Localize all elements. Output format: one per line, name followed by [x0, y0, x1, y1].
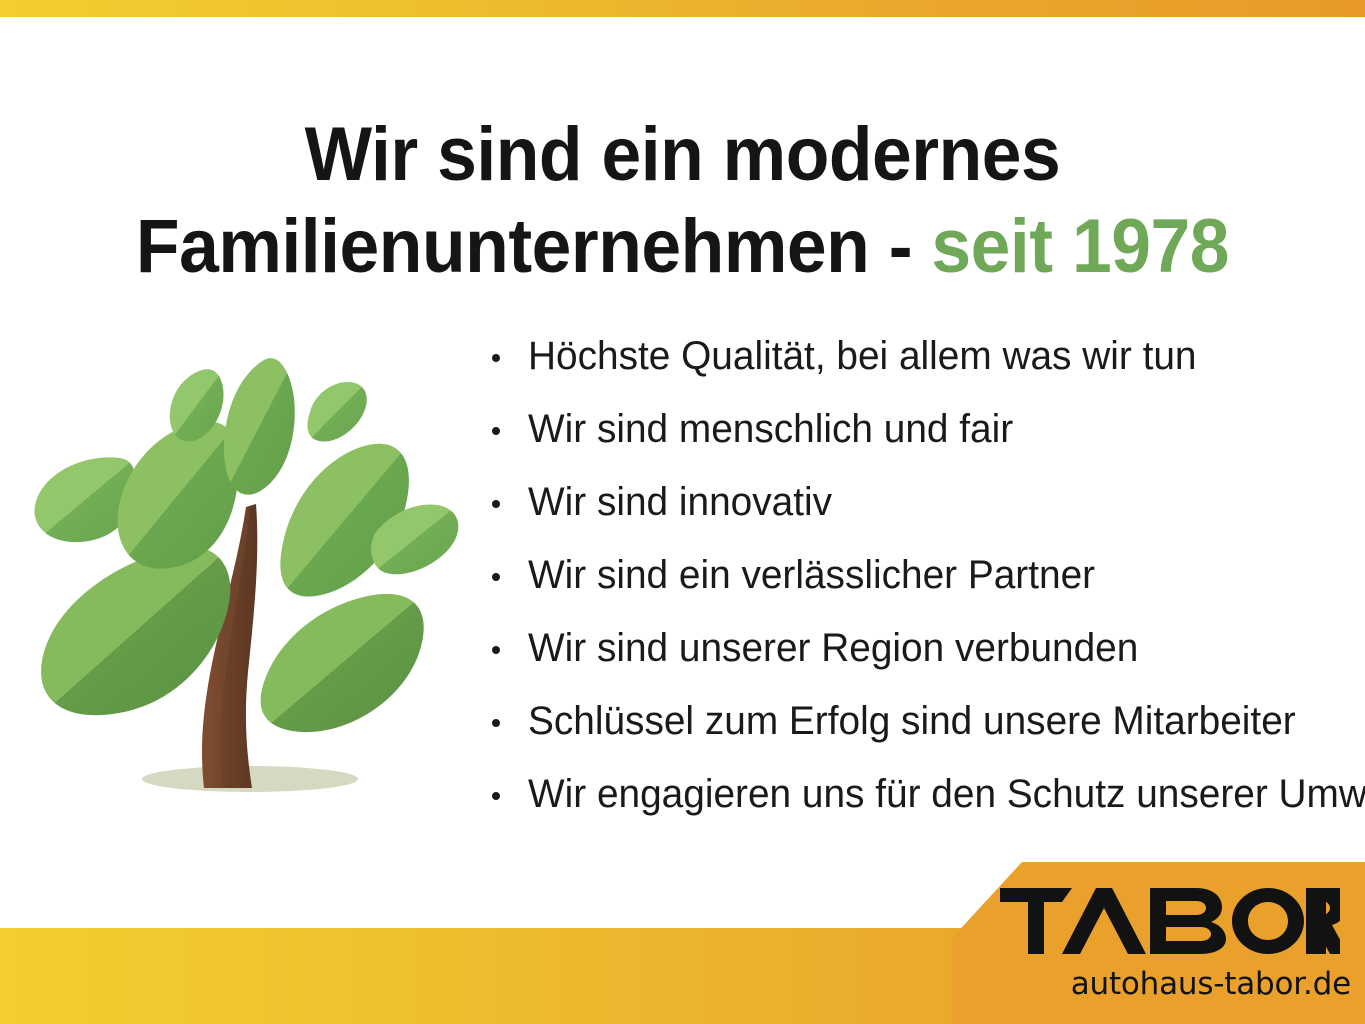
list-item-label: Schlüssel zum Erfolg sind unsere Mitarbe… [528, 695, 1296, 747]
bullet-dot-icon [492, 573, 500, 581]
list-item: Wir sind menschlich und fair [488, 403, 1358, 476]
bullet-dot-icon [492, 646, 500, 654]
title-accent-since-year: seit 1978 [931, 204, 1229, 289]
bullet-dot-icon [492, 719, 500, 727]
tabor-wordmark-icon [1000, 888, 1340, 954]
slide-canvas: Wir sind ein modernes Familienunternehme… [0, 0, 1365, 1024]
value-list: Höchste Qualität, bei allem was wir tun … [488, 330, 1358, 841]
list-item-label: Wir sind ein verlässlicher Partner [528, 549, 1095, 601]
list-item-label: Wir sind unserer Region verbunden [528, 622, 1138, 674]
bullet-dot-icon [492, 500, 500, 508]
tree-leaf-left-upper [118, 422, 238, 569]
brand-url: autohaus-tabor.de [952, 966, 1365, 1002]
list-item: Wir engagieren uns für den Schutz unsere… [488, 768, 1358, 841]
list-item: Wir sind innovativ [488, 476, 1358, 549]
brand-logo-inner: autohaus-tabor.de [952, 862, 1365, 1024]
bullet-dot-icon [492, 354, 500, 362]
list-item-label: Wir engagieren uns für den Schutz unsere… [528, 768, 1365, 820]
top-accent-bar [0, 0, 1365, 17]
list-item-label: Wir sind innovativ [528, 476, 832, 528]
list-item-label: Höchste Qualität, bei allem was wir tun [528, 330, 1197, 382]
bullet-dot-icon [492, 792, 500, 800]
list-item: Wir sind unserer Region verbunden [488, 622, 1358, 695]
tree-leaf-topright-small [308, 382, 367, 442]
tree-illustration [24, 352, 476, 822]
tree-leaf-right-lower [261, 594, 424, 732]
title-line-2-main: Familienunternehmen - [136, 204, 931, 289]
list-item: Schlüssel zum Erfolg sind unsere Mitarbe… [488, 695, 1358, 768]
tree-leaf-top-center [224, 358, 295, 495]
title-line-2: Familienunternehmen - seit 1978 [41, 201, 1324, 293]
page-title: Wir sind ein modernes Familienunternehme… [0, 109, 1365, 293]
bullet-dot-icon [492, 427, 500, 435]
list-item: Höchste Qualität, bei allem was wir tun [488, 330, 1358, 403]
title-line-1: Wir sind ein modernes [41, 109, 1324, 201]
list-item: Wir sind ein verlässlicher Partner [488, 549, 1358, 622]
list-item-label: Wir sind menschlich und fair [528, 403, 1013, 455]
brand-logo-panel: autohaus-tabor.de [952, 862, 1365, 1024]
tree-leaf-left-lower [41, 547, 230, 715]
